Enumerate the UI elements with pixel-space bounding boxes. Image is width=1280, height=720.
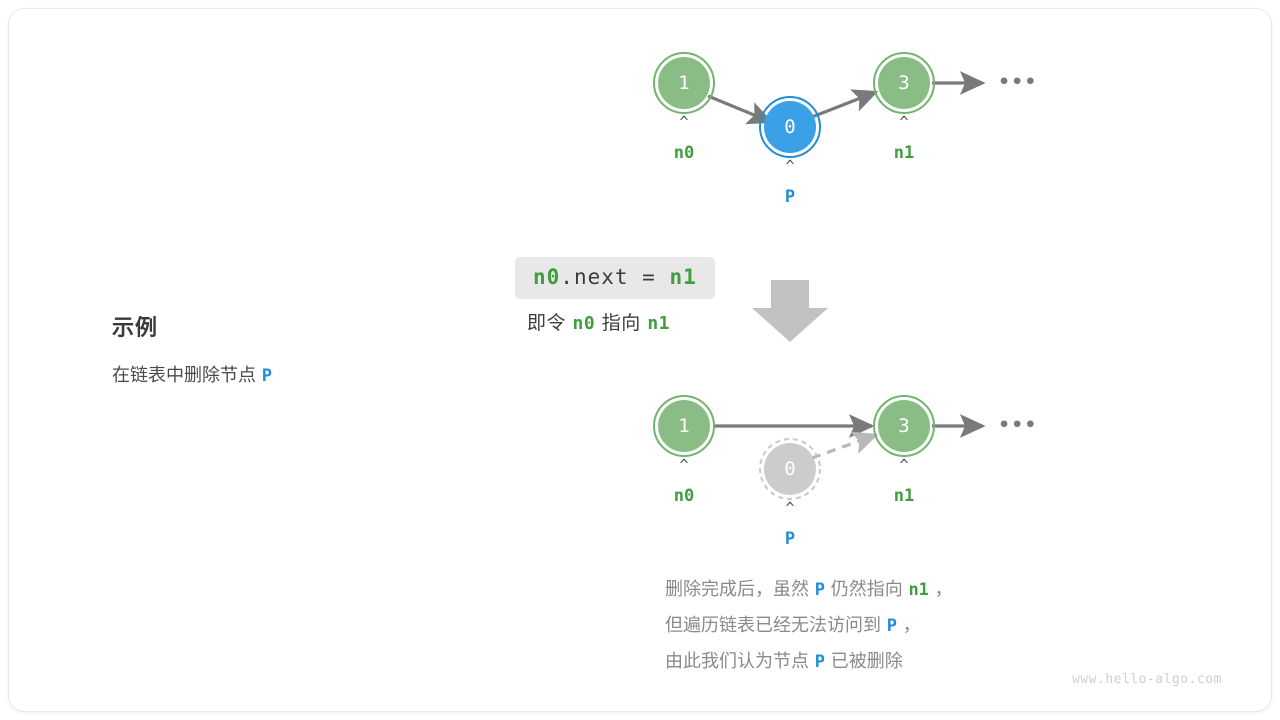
example-description-text: 在链表中删除节点 (112, 365, 256, 386)
caret-p-bottom: ^ (770, 499, 810, 517)
explanation-line: 但遍历链表已经无法访问到 P ， (665, 608, 953, 644)
code-statement: n0.next = n1 (515, 257, 715, 299)
label-n1-top: n1 (874, 143, 934, 163)
watermark: www.hello-algo.com (1072, 672, 1222, 687)
caret-p-top: ^ (770, 157, 810, 175)
code-caption: 即令 n0 指向 n1 (527, 308, 670, 335)
text-run-plain: 但遍历链表已经无法访问到 (665, 615, 887, 636)
text-run-plain: 即令 (527, 312, 573, 334)
text-run-plain: ， (929, 579, 953, 600)
label-n1-bottom: n1 (874, 486, 934, 506)
text-run-plain: .next (560, 265, 642, 289)
label-p-bottom: P (760, 529, 820, 549)
label-p-top: P (760, 187, 820, 207)
text-run-green: n0 (533, 265, 560, 289)
tail-ellipsis-bottom: ••• (998, 414, 1037, 436)
caret-n1-bottom: ^ (884, 456, 924, 474)
caret-n0-bottom: ^ (664, 456, 704, 474)
diagram-canvas: 1 0 3 (0, 0, 1280, 720)
text-run-plain: 仍然指向 (825, 579, 908, 600)
text-run-blue: P (887, 616, 897, 636)
explanation-text: 删除完成后，虽然 P 仍然指向 n1 ，但遍历链表已经无法访问到 P ，由此我们… (665, 572, 953, 680)
label-n0-top: n0 (654, 143, 714, 163)
explanation-line: 由此我们认为节点 P 已被删除 (665, 644, 953, 680)
text-run-plain: ， (897, 615, 921, 636)
label-n0-bottom: n0 (654, 486, 714, 506)
tail-ellipsis-top: ••• (998, 71, 1037, 93)
text-run-green: n1 (647, 313, 670, 334)
caret-n1-top: ^ (884, 113, 924, 131)
explanation-line: 删除完成后，虽然 P 仍然指向 n1 ， (665, 572, 953, 608)
example-description: 在链表中删除节点 P (112, 363, 442, 389)
example-block: 示例 在链表中删除节点 P (112, 313, 442, 389)
text-run-plain: 删除完成后，虽然 (665, 579, 815, 600)
text-run-green: n1 (669, 265, 696, 289)
text-run-plain: 已被删除 (825, 651, 903, 672)
text-run-green: n1 (908, 580, 928, 600)
text-run-plain: 由此我们认为节点 (665, 651, 815, 672)
example-description-token: P (262, 366, 272, 386)
page-title: 示例 (112, 313, 442, 345)
caret-n0-top: ^ (664, 113, 704, 131)
text-run-blue: P (815, 652, 825, 672)
text-run-blue: P (815, 580, 825, 600)
text-run-plain: 指向 (595, 312, 647, 334)
text-run-green: n0 (573, 313, 596, 334)
text-run-plain: = (642, 265, 669, 289)
